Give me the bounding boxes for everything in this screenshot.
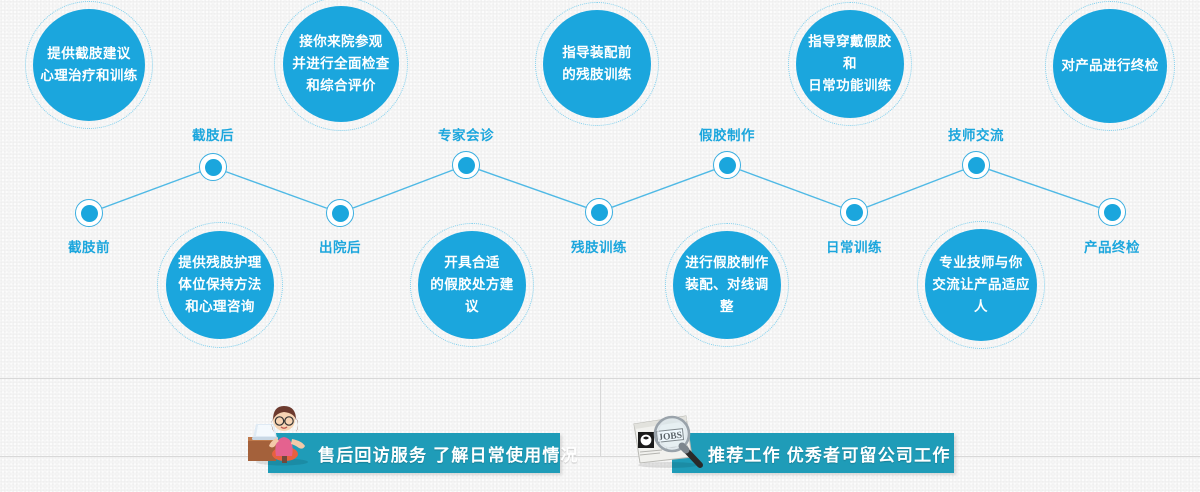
flow-node[interactable] bbox=[713, 151, 741, 179]
flow-node-label: 技师交流 bbox=[948, 124, 1004, 144]
flow-node[interactable] bbox=[840, 198, 868, 226]
detail-bubble-text: 指导穿戴假胶和 日常功能训练 bbox=[796, 10, 904, 118]
flow-node-label: 日常训练 bbox=[826, 236, 882, 256]
flow-connector-line bbox=[989, 170, 1099, 208]
detail-bubble: 指导穿戴假胶和 日常功能训练 bbox=[788, 2, 912, 126]
detail-bubble: 提供截肢建议 心理治疗和训练 bbox=[25, 1, 153, 129]
flow-node[interactable] bbox=[452, 151, 480, 179]
info-banner[interactable]: 售后回访服务 了解日常使用情况 bbox=[268, 433, 560, 473]
woman-at-desk-icon bbox=[246, 404, 312, 471]
flow-node[interactable] bbox=[1098, 198, 1126, 226]
flow-node[interactable] bbox=[326, 199, 354, 227]
flow-node-label: 残肢训练 bbox=[571, 236, 627, 256]
detail-bubble: 提供残肢护理 体位保持方法 和心理咨询 bbox=[157, 222, 283, 348]
flow-node[interactable] bbox=[585, 198, 613, 226]
jobs-newspaper-magnifier-icon: JOBS bbox=[628, 410, 706, 475]
flow-node-label: 截肢前 bbox=[68, 236, 110, 256]
flow-connector-line bbox=[740, 170, 841, 207]
detail-bubble-text: 接你来院参观 并进行全面检查 和综合评价 bbox=[283, 6, 399, 122]
flow-node[interactable] bbox=[962, 151, 990, 179]
flow-node-label: 截肢后 bbox=[192, 124, 234, 144]
detail-bubble-text: 专业技师与你 交流让产品适应人 bbox=[925, 229, 1037, 341]
flow-node-label: 专家会诊 bbox=[438, 124, 494, 144]
info-banner[interactable]: JOBS推荐工作 优秀者可留公司工作 bbox=[672, 433, 954, 473]
flow-connector-line bbox=[226, 172, 327, 208]
detail-bubble-text: 开具合适 的假胶处方建议 bbox=[418, 231, 526, 339]
info-banner-label: 售后回访服务 了解日常使用情况 bbox=[318, 441, 579, 466]
flow-connector-line bbox=[353, 170, 453, 208]
flow-connector-line bbox=[612, 170, 714, 207]
info-banner-label: 推荐工作 优秀者可留公司工作 bbox=[708, 441, 951, 466]
flow-node[interactable] bbox=[75, 199, 103, 227]
divider-horizontal-banner bbox=[0, 456, 1200, 457]
detail-bubble: 进行假胶制作 装配、对线调整 bbox=[665, 223, 789, 347]
detail-bubble-text: 进行假胶制作 装配、对线调整 bbox=[673, 231, 781, 339]
flow-node[interactable] bbox=[199, 153, 227, 181]
divider-vertical-center bbox=[600, 378, 601, 456]
detail-bubble-text: 提供截肢建议 心理治疗和训练 bbox=[33, 9, 145, 121]
flow-node-label: 假胶制作 bbox=[699, 124, 755, 144]
detail-bubble-text: 提供残肢护理 体位保持方法 和心理咨询 bbox=[166, 231, 274, 339]
detail-bubble: 指导装配前 的残肢训练 bbox=[535, 2, 659, 126]
detail-bubble: 接你来院参观 并进行全面检查 和综合评价 bbox=[274, 0, 408, 131]
flow-connector-line bbox=[102, 172, 200, 208]
infographic-canvas: 提供截肢建议 心理治疗和训练提供残肢护理 体位保持方法 和心理咨询接你来院参观 … bbox=[0, 0, 1200, 492]
detail-bubble-text: 指导装配前 的残肢训练 bbox=[543, 10, 651, 118]
flow-node-label: 产品终检 bbox=[1084, 236, 1140, 256]
flow-connector-line bbox=[479, 170, 586, 208]
detail-bubble-text: 对产品进行终检 bbox=[1053, 9, 1167, 123]
flow-node-label: 出院后 bbox=[319, 236, 361, 256]
flow-connector-line bbox=[867, 170, 963, 207]
detail-bubble: 开具合适 的假胶处方建议 bbox=[410, 223, 534, 347]
detail-bubble: 专业技师与你 交流让产品适应人 bbox=[917, 221, 1045, 349]
detail-bubble: 对产品进行终检 bbox=[1045, 1, 1175, 131]
